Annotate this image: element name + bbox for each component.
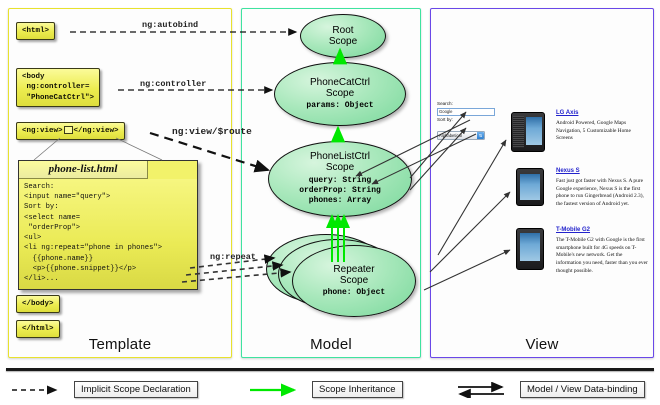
scope-repeater: RepeaterScope phone: Object [292,245,416,317]
phone-listing-name[interactable]: T-Mobile G2 [556,227,648,235]
code-note-title: phone-list.html [19,161,148,179]
scope-phonelistctrl: PhoneListCtrlScope query: String orderPr… [268,141,412,217]
order-prop-value: Alphabetical [439,133,462,138]
scope-root: RootScope [300,14,386,58]
phone-listing-snippet: Fast just got faster with Nexus S. A pur… [556,178,648,209]
scope-phonelistctrl-props: query: String orderProp: String phones: … [299,176,381,207]
tag-html-open: <html> [16,22,55,40]
panel-template-label: Template [9,336,231,353]
tag-html-close: </html> [16,320,60,338]
tag-ngview: <ng:view></ng:view> [16,122,125,140]
dashed-arrow-icon [10,382,68,398]
legend-label-data-binding: Model / View Data-binding [520,381,645,398]
ngview-open-text: <ng:view> [22,127,63,135]
phone-listing-0: LG Axis Android Powered, Google Maps Nav… [556,110,648,143]
scope-phonecatctrl-props: params: Object [306,101,373,111]
connector-label-controller: ng:controller [140,79,206,89]
legend-label-scope-inheritance: Scope Inheritance [312,381,403,398]
phone-thumbnail-0 [511,112,545,152]
chevron-updown-icon: ⇅ [477,132,484,139]
phone-listing-1: Nexus S Fast just got faster with Nexus … [556,168,648,209]
double-arrow-icon [456,382,514,398]
phone-screen [520,233,540,261]
green-arrow-icon [248,382,306,398]
sort-by-label: Sort by: [437,117,495,124]
search-label: Search: [437,101,495,108]
phone-listing-name[interactable]: Nexus S [556,168,648,176]
scope-phonelistctrl-title: PhoneListCtrlScope [310,151,370,173]
phone-listing-2: T-Mobile G2 The T-Mobile G2 with Google … [556,227,648,276]
phone-thumbnail-1 [516,168,544,206]
ngview-close-text: </ng:view> [74,127,119,135]
phone-listing-snippet: Android Powered, Google Maps Navigation,… [556,120,648,143]
phone-screen [520,174,540,200]
search-input[interactable]: Google [437,108,495,116]
legend-item-scope-inheritance: Scope Inheritance [248,381,403,398]
scope-repeater-stack: RepeaterScope phone: Object [266,234,416,320]
diagram-canvas: Template Model View <html> <body ng:cont… [0,0,660,405]
connector-label-autobind: ng:autobind [142,20,198,30]
legend-item-implicit-scope: Implicit Scope Declaration [10,381,198,398]
phone-keyboard [513,116,524,148]
phone-thumbnail-2 [516,228,544,270]
connector-label-ngrepeat: ng:repeat [210,252,256,262]
view-search-form: Search: Google Sort by: Alphabetical ⇅ [437,101,495,142]
legend-item-data-binding: Model / View Data-binding [456,381,645,398]
phone-listing-name[interactable]: LG Axis [556,110,648,118]
scope-repeater-title: RepeaterScope [333,264,374,286]
placeholder-square-icon [64,126,73,134]
panel-model-label: Model [242,336,420,353]
code-note-body: Search: <input name="query"> Sort by: <s… [19,179,197,289]
scope-repeater-props: phone: Object [323,288,385,298]
scope-phonecatctrl-title: PhoneCatCtrlScope [310,77,370,99]
order-prop-select[interactable]: Alphabetical ⇅ [437,131,485,140]
legend-divider [6,368,654,371]
legend-label-implicit-scope: Implicit Scope Declaration [74,381,198,398]
connector-label-ngview: ng:view/$route [172,126,252,137]
scope-phonecatctrl: PhoneCatCtrlScope params: Object [274,62,406,126]
tag-body-close: </body> [16,295,60,313]
panel-view-label: View [431,336,653,353]
phone-listing-snippet: The T-Mobile G2 with Google is the first… [556,237,648,276]
scope-root-title: RootScope [329,25,357,47]
code-note-phone-list: phone-list.html Search: <input name="que… [18,160,198,290]
phone-screen [526,117,542,145]
tag-body-open: <body ng:controller= "PhoneCatCtrl"> [16,68,100,107]
